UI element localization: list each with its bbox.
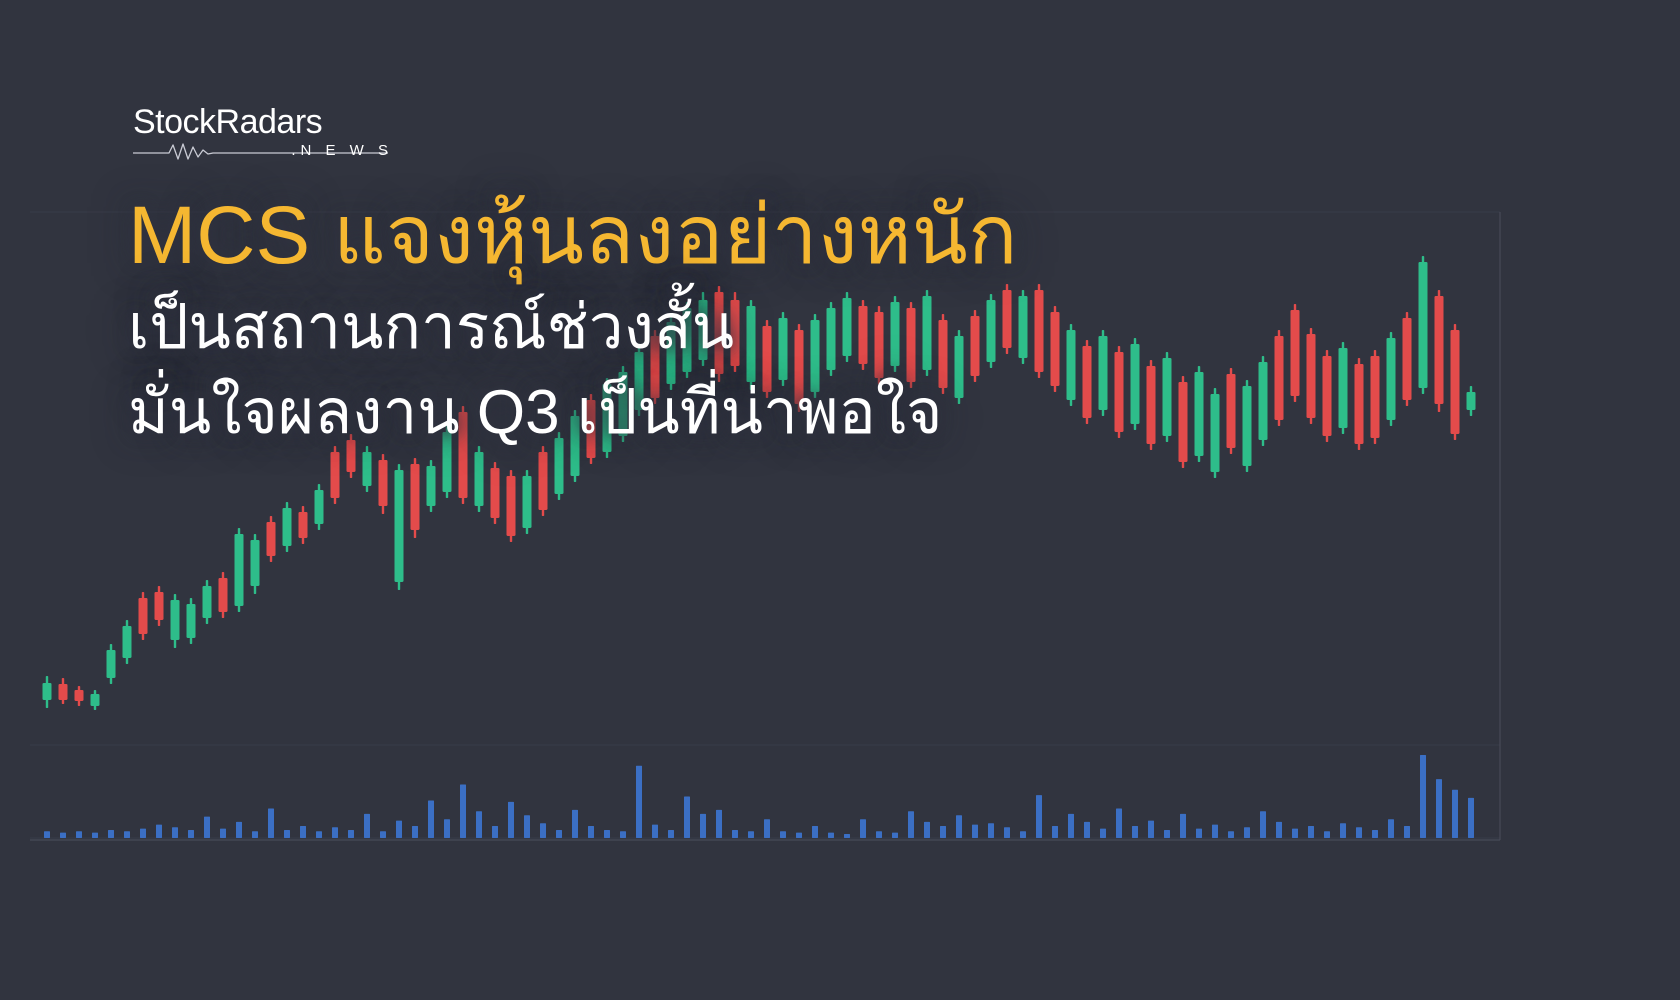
headline-subline-2: มั่นใจผลงาน Q3 เป็นที่น่าพอใจ bbox=[128, 374, 1428, 452]
headline-subline-1: เป็นสถานการณ์ช่วงสั้น bbox=[128, 289, 1428, 367]
news-banner: StockRadars .N E W S MCS แจงหุ้นลงอย่างห… bbox=[0, 0, 1680, 1000]
logo-rule-row: .N E W S bbox=[133, 141, 393, 167]
logo-wordmark: StockRadars bbox=[133, 105, 393, 139]
headline-block: MCS แจงหุ้นลงอย่างหนัก เป็นสถานการณ์ช่วง… bbox=[128, 192, 1428, 452]
headline-main: MCS แจงหุ้นลงอย่างหนัก bbox=[128, 192, 1428, 281]
stockradars-logo[interactable]: StockRadars .N E W S bbox=[133, 105, 393, 167]
logo-news-suffix: .N E W S bbox=[291, 142, 393, 159]
